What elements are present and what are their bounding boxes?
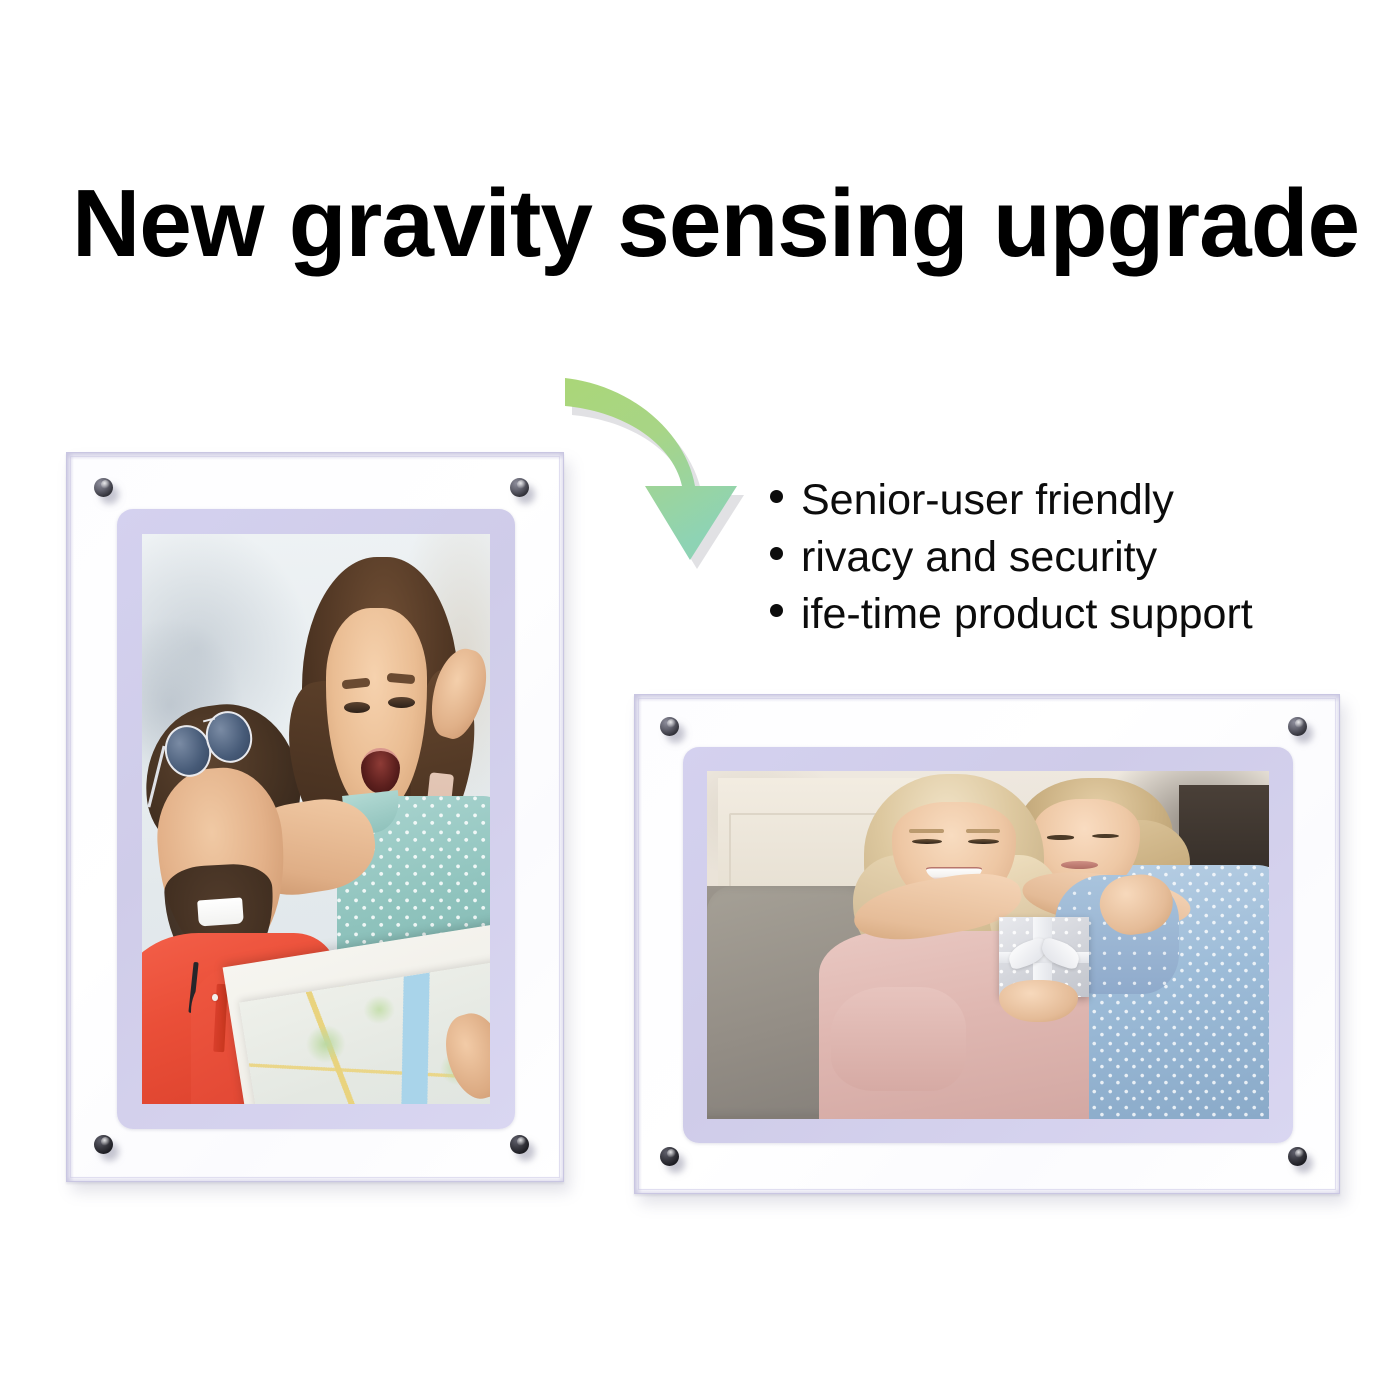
standoff-screw-top-right xyxy=(1288,717,1307,736)
portrait-frame[interactable] xyxy=(66,452,564,1182)
standoff-screw-bottom-left xyxy=(660,1147,679,1166)
bullet-dot-icon xyxy=(770,490,783,503)
feature-label: Senior-user friendly xyxy=(801,472,1174,529)
bullet-dot-icon xyxy=(770,547,783,560)
standoff-screw-top-left xyxy=(94,478,113,497)
list-item: rivacy and security xyxy=(770,529,1370,586)
bullet-dot-icon xyxy=(770,604,783,617)
standoff-screw-bottom-left xyxy=(94,1135,113,1154)
portrait-display-bezel xyxy=(117,509,515,1129)
landscape-display-bezel xyxy=(683,747,1293,1143)
standoff-screw-top-left xyxy=(660,717,679,736)
feature-list: Senior-user friendly rivacy and security… xyxy=(770,472,1370,643)
standoff-screw-bottom-right xyxy=(510,1135,529,1154)
list-item: ife-time product support xyxy=(770,586,1370,643)
couple-with-map-photo xyxy=(142,534,490,1104)
product-feature-banner: New gravity sensing upgrade xyxy=(0,0,1400,1400)
feature-label: ife-time product support xyxy=(801,586,1253,643)
curved-down-arrow-icon xyxy=(548,360,758,570)
standoff-screw-top-right xyxy=(510,478,529,497)
feature-label: rivacy and security xyxy=(801,529,1157,586)
list-item: Senior-user friendly xyxy=(770,472,1370,529)
landscape-frame[interactable] xyxy=(634,694,1340,1194)
page-title: New gravity sensing upgrade xyxy=(72,176,1333,272)
standoff-screw-bottom-right xyxy=(1288,1147,1307,1166)
mother-daughter-gift-photo xyxy=(707,771,1269,1119)
